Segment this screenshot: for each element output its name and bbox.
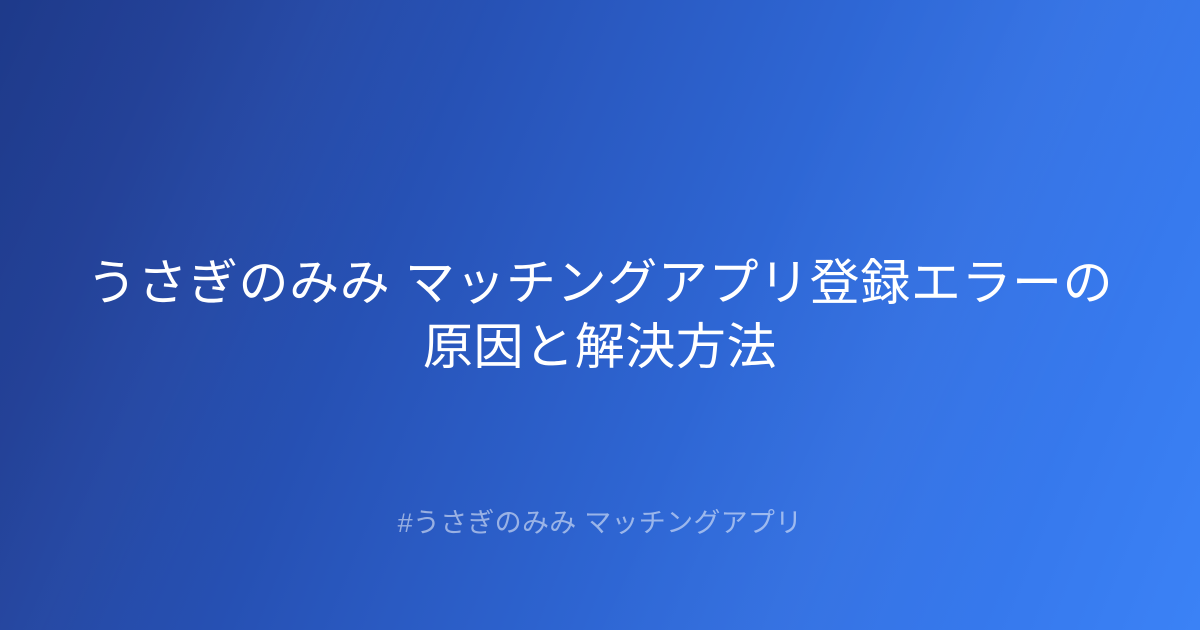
card-content-container: うさぎのみみ マッチングアプリ登録エラーの原因と解決方法 xyxy=(0,0,1200,630)
page-title: うさぎのみみ マッチングアプリ登録エラーの原因と解決方法 xyxy=(70,251,1130,379)
og-card: うさぎのみみ マッチングアプリ登録エラーの原因と解決方法 #うさぎのみみ マッチ… xyxy=(0,0,1200,630)
